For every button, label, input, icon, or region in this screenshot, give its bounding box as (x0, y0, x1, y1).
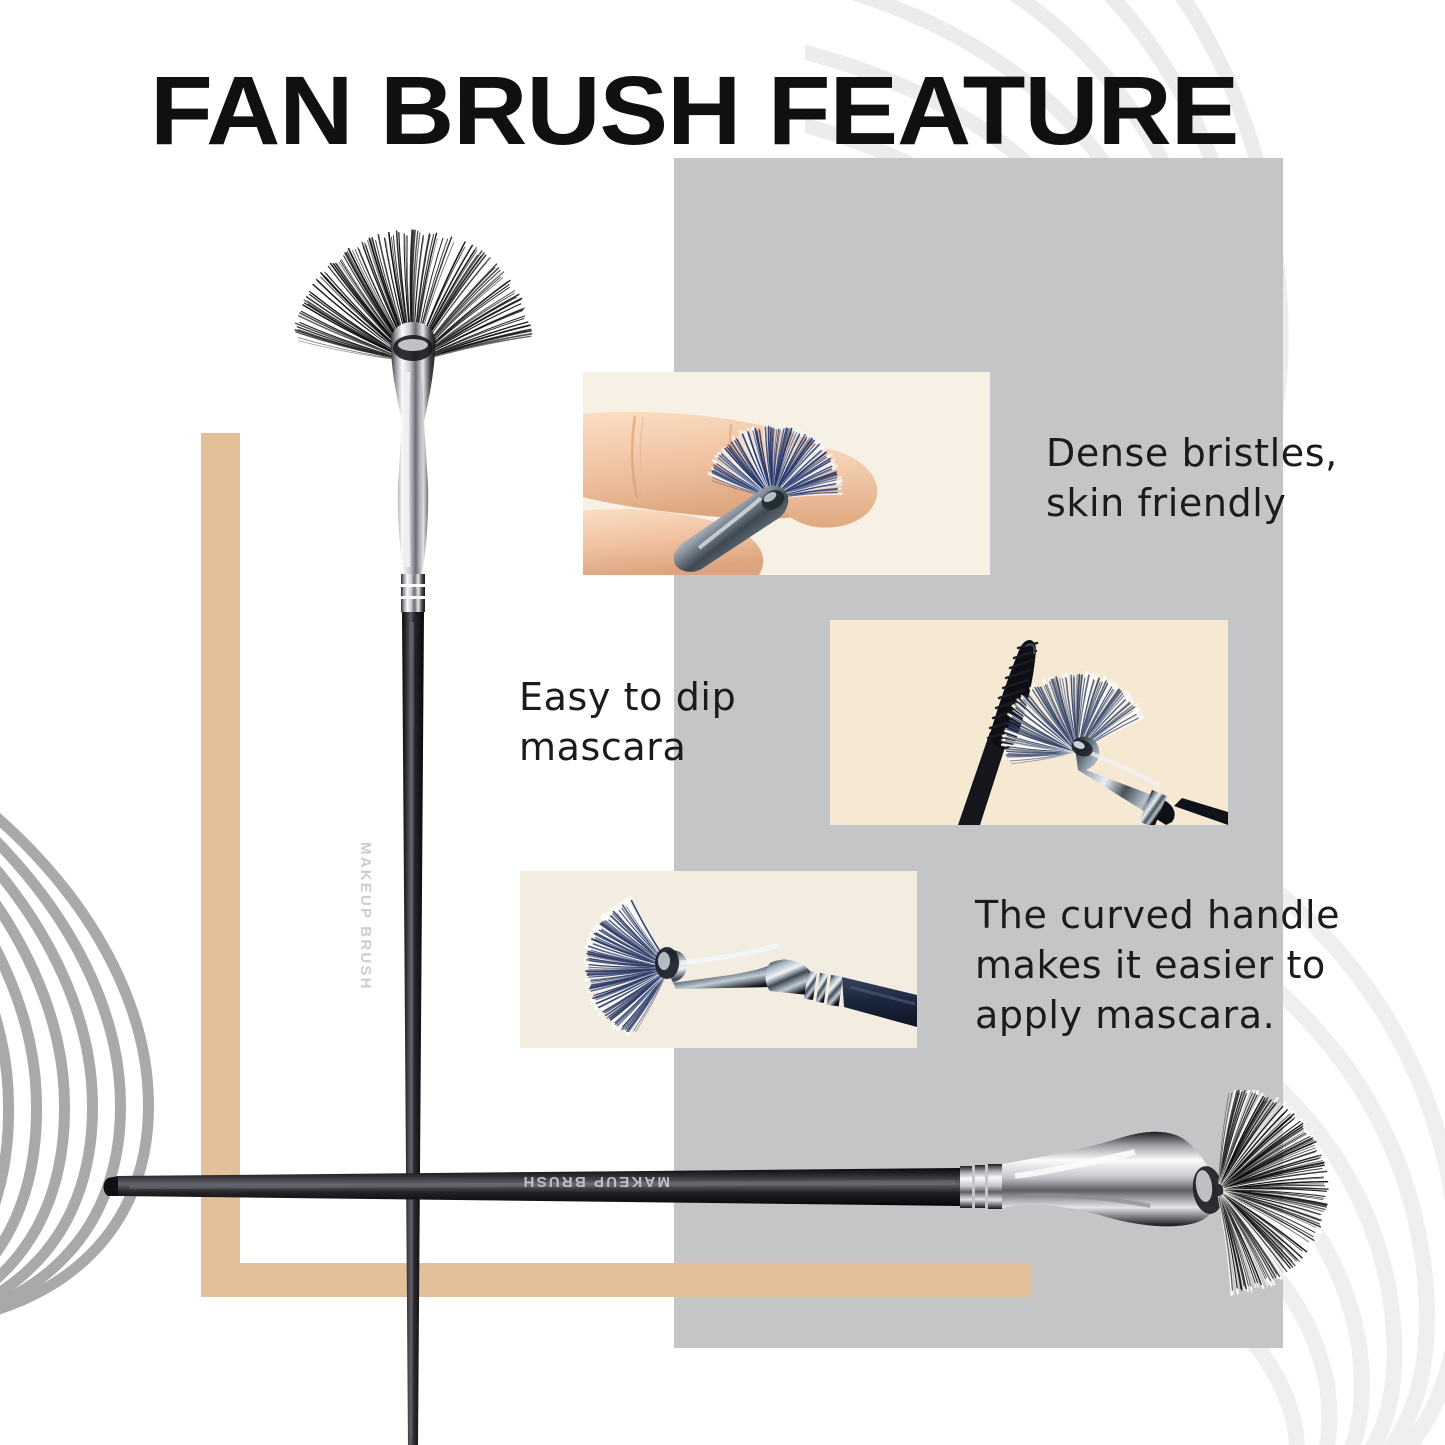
infographic-canvas: FAN BRUSH FEATURE (0, 0, 1445, 1445)
caption-dense-bristles: Dense bristles, skin friendly (1046, 428, 1416, 528)
fan-brush-horizontal-art (100, 1090, 1360, 1300)
photo-fan-brush-with-mascara-wand (830, 620, 1228, 825)
caption-easy-to-dip: Easy to dip mascara (519, 672, 819, 772)
photo-fan-brush-curved-handle (520, 871, 917, 1048)
handle-brand-label-vertical: MAKEUP BRUSH (357, 842, 374, 991)
caption-curved-handle: The curved handle makes it easier to app… (975, 890, 1415, 1040)
fan-brush-horizontal: MAKEUP BRUSH (100, 1090, 1360, 1300)
photo-fingers-pinching-fan-brush (583, 372, 990, 575)
ferrule-horizontal (1002, 1132, 1217, 1227)
page-title: FAN BRUSH FEATURE (150, 62, 1238, 159)
handle-brand-label-horizontal: MAKEUP BRUSH (521, 1173, 670, 1190)
